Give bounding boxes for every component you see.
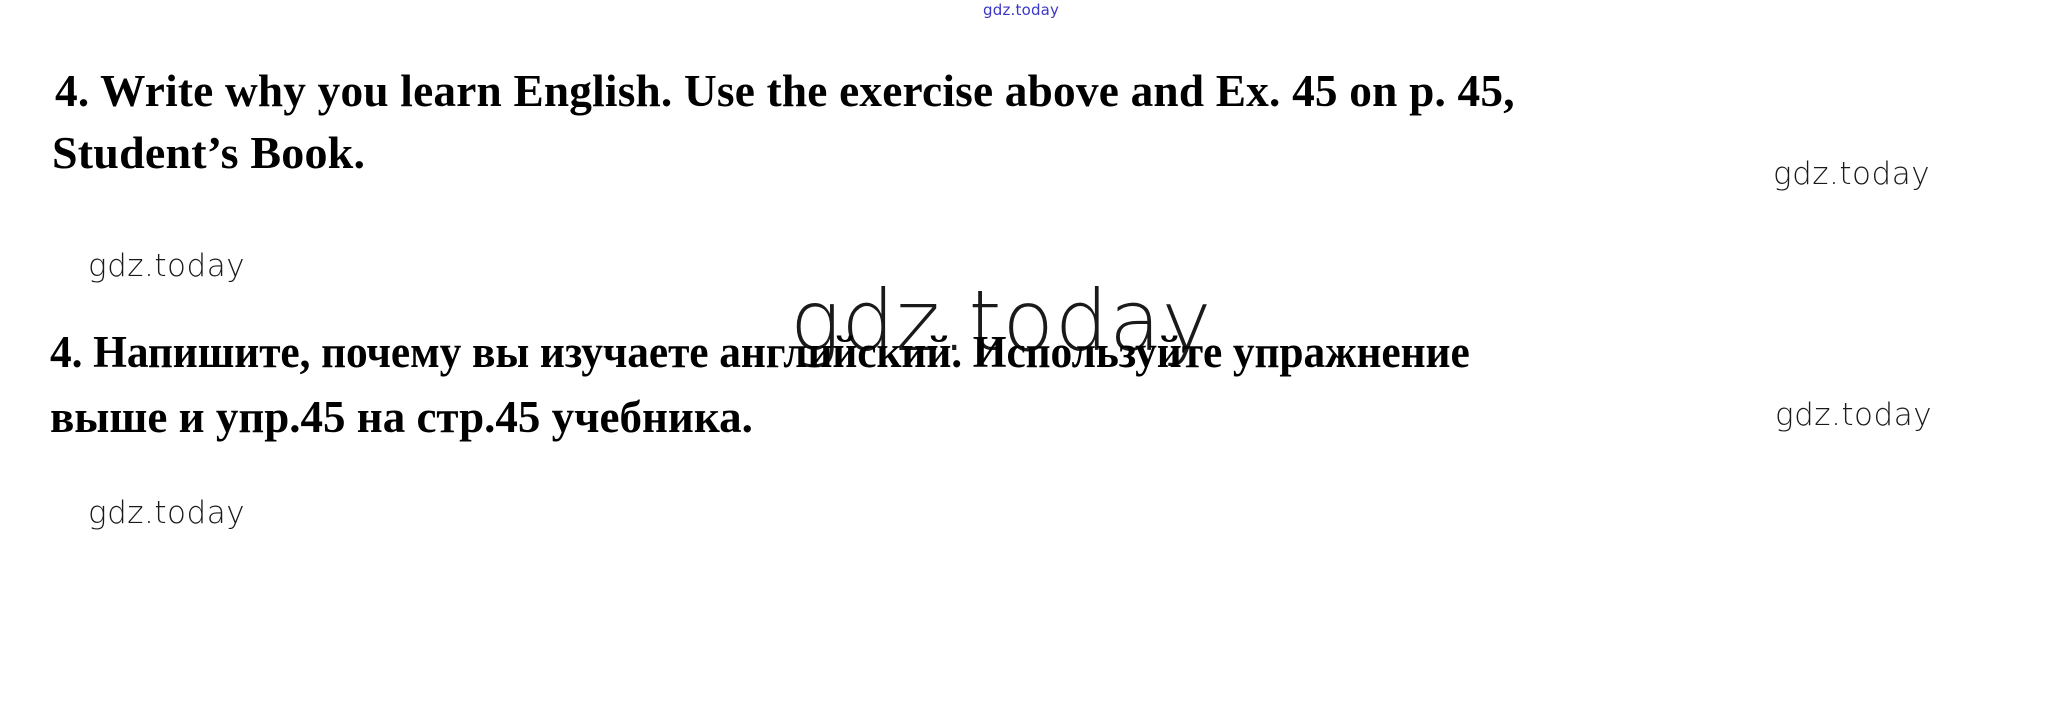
watermark-left-upper: gdz.today bbox=[88, 248, 245, 284]
exercise-english-line-1: 4. Write why you learn English. Use the … bbox=[55, 68, 1515, 114]
exercise-russian-line-2: выше и упр.45 на стр.45 учебника. bbox=[50, 395, 753, 440]
watermark-right-lower: gdz.today bbox=[1775, 397, 1932, 433]
document-page: gdz.today 4. Write why you learn English… bbox=[0, 0, 2045, 716]
watermark-right-upper: gdz.today bbox=[1773, 156, 1930, 192]
watermark-top-blue: gdz.today bbox=[983, 1, 1059, 19]
exercise-russian-line-1: 4. Напишите, почему вы изучаете английск… bbox=[50, 330, 1470, 375]
exercise-english-line-2: Student’s Book. bbox=[52, 130, 365, 176]
watermark-left-lower: gdz.today bbox=[88, 495, 245, 531]
